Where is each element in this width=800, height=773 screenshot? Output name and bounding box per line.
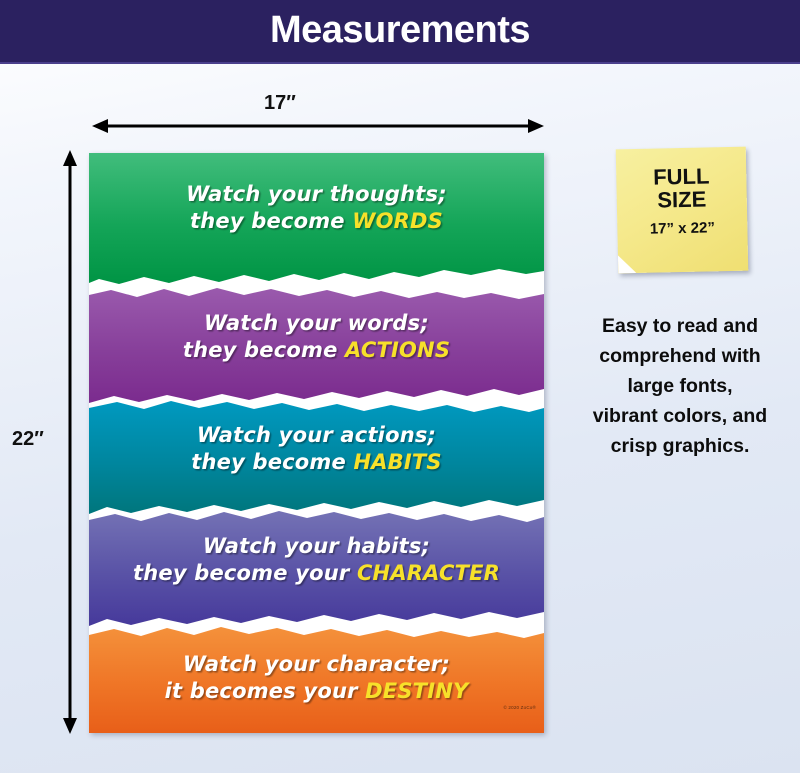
band-keyword: HABITS [353,450,441,474]
header-divider [0,62,800,64]
band-line1: Watch your actions; [197,423,436,447]
height-dimension-arrow [62,150,78,734]
width-dimension-label: 17″ [264,92,296,115]
band-text-thoughts: Watch your thoughts; they become WORDS [89,181,544,235]
product-description: Easy to read and comprehend with large f… [570,311,790,461]
band-line2-prefix: it becomes your [165,679,366,703]
band-line2-prefix: they become [183,338,345,362]
poster-preview[interactable]: Watch your thoughts; they become WORDS W… [89,153,544,733]
width-dimension-arrow [92,118,544,134]
sticky-note-fold [618,255,636,273]
band-line1: Watch your words; [204,311,429,335]
description-line-1: Easy to read and [602,315,758,337]
poster-band-habits: Watch your habits; they become your CHAR… [89,506,544,628]
poster-band-words: Watch your words; they become ACTIONS [89,281,544,405]
band-text-words: Watch your words; they become ACTIONS [89,310,544,364]
band-line2-prefix: they become [190,209,352,233]
description-line-3: large fonts, [627,375,732,397]
poster-band-character: Watch your character; it becomes your DE… [89,619,544,733]
description-line-4: vibrant colors, and [593,405,767,427]
band-line1: Watch your thoughts; [186,182,447,206]
band-text-character: Watch your character; it becomes your DE… [89,651,544,705]
band-keyword: ACTIONS [345,338,450,362]
band-text-habits: Watch your habits; they become your CHAR… [89,533,544,587]
band-keyword: CHARACTER [357,561,500,585]
band-line1: Watch your character; [183,652,450,676]
poster-band-thoughts: Watch your thoughts; they become WORDS [89,153,544,285]
band-keyword: DESTINY [365,679,468,703]
poster-band-actions: Watch your actions; they become HABITS [89,396,544,516]
sticky-note-title: FULL SIZE [616,164,747,213]
band-line2-prefix: they become your [133,561,357,585]
description-line-5: crisp graphics. [611,435,750,457]
description-line-2: comprehend with [599,345,760,367]
band-keyword: WORDS [352,209,443,233]
height-dimension-label: 22″ [12,428,44,451]
band-text-actions: Watch your actions; they become HABITS [89,422,544,476]
sticky-note-title-line2: SIZE [657,186,706,212]
band-line2-prefix: they become [191,450,353,474]
screenshot-root: Measurements 17″ 22″ [0,0,800,773]
band-line1: Watch your habits; [203,534,430,558]
copyright-notice: © 2020 ZoCo® [89,705,536,710]
full-size-sticky-note: FULL SIZE 17” x 22” [616,147,749,274]
sticky-note-subtitle: 17” x 22” [617,219,747,239]
page-title: Measurements [0,4,800,56]
